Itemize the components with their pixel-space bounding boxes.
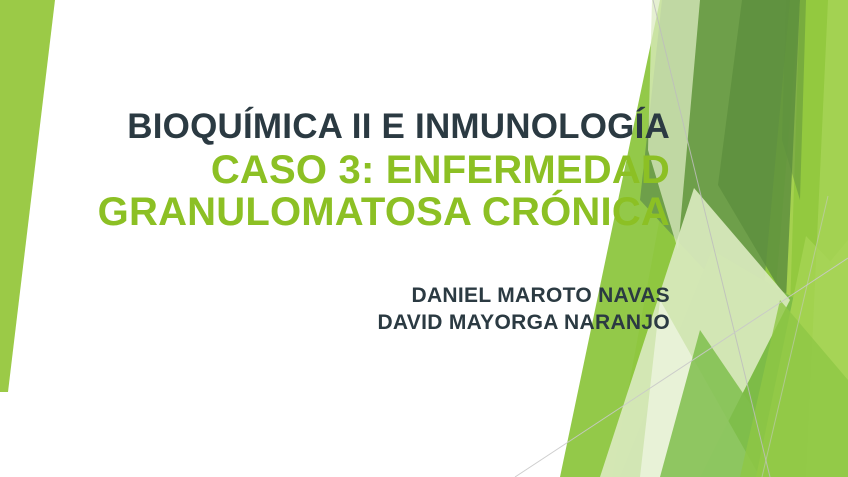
author-name-1: DANIEL MAROTO NAVAS (40, 283, 670, 310)
slide-text-layer: BIOQUÍMICA II E INMUNOLOGÍA CASO 3: ENFE… (0, 0, 848, 477)
title-line-disease: GRANULOMATOSA CRÓNICA (40, 191, 670, 233)
title-line-case: CASO 3: ENFERMEDAD (40, 149, 670, 191)
title-line-course: BIOQUÍMICA II E INMUNOLOGÍA (40, 108, 670, 145)
page-title: BIOQUÍMICA II E INMUNOLOGÍA CASO 3: ENFE… (40, 108, 670, 234)
title-slide: BIOQUÍMICA II E INMUNOLOGÍA CASO 3: ENFE… (0, 0, 848, 477)
subtitle-authors: DANIEL MAROTO NAVAS DAVID MAYORGA NARANJ… (40, 283, 670, 337)
author-name-2: DAVID MAYORGA NARANJO (40, 310, 670, 337)
